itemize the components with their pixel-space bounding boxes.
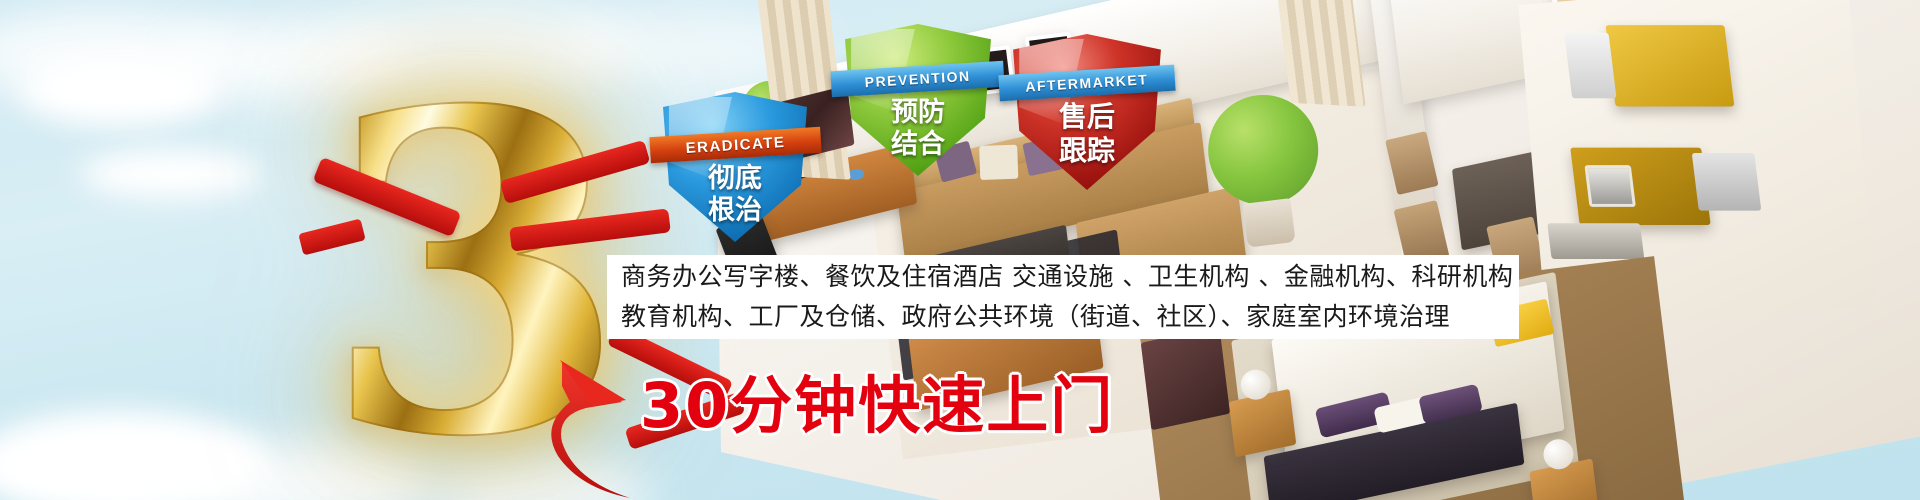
kitchen-upper-cabinet bbox=[1606, 25, 1735, 106]
shield-eradicate: ERADICATE 彻底 根治 bbox=[660, 92, 810, 242]
service-scope-panel: 商务办公写字楼、餐饮及住宿酒店 交通设施 、卫生机构 、金融机构、科研机构 教育… bbox=[607, 255, 1519, 339]
kitchen-sink bbox=[1692, 153, 1762, 211]
shield-label-aftermarket-line2: 跟踪 bbox=[1010, 136, 1164, 166]
service-scope-line-2: 教育机构、工厂及仓储、政府公共环境（街道、社区）、家庭室内环境治理 bbox=[621, 297, 1505, 337]
shield-aftermarket: AFTERMARKET 售后 跟踪 bbox=[1010, 34, 1164, 190]
shield-label-eradicate-line1: 彻底 bbox=[660, 164, 810, 193]
range-hood bbox=[1564, 33, 1616, 99]
headline-30-minute-service: 30分钟快速上门 bbox=[640, 355, 1114, 445]
service-scope-line-1: 商务办公写字楼、餐饮及住宿酒店 交通设施 、卫生机构 、金融机构、科研机构 bbox=[621, 257, 1505, 297]
marble-column bbox=[1141, 326, 1230, 430]
shield-label-eradicate-line2: 根治 bbox=[660, 196, 810, 225]
shield-prevention: PREVENTION 预防 结合 bbox=[842, 24, 994, 176]
shield-label-prevention-line2: 结合 bbox=[842, 130, 994, 159]
oven bbox=[1584, 165, 1635, 207]
cooktop bbox=[1547, 223, 1644, 259]
shield-label-aftermarket-line1: 售后 bbox=[1010, 102, 1164, 132]
promotional-banner: 3 ERADICATE 彻底 根治 bbox=[0, 0, 1920, 500]
shield-label-prevention-line1: 预防 bbox=[842, 98, 994, 127]
